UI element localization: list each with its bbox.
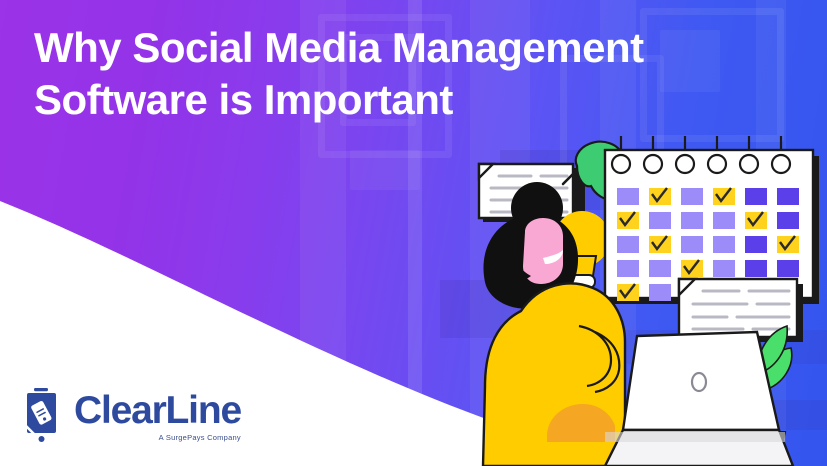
logo-wordmark: ClearLine bbox=[74, 391, 241, 430]
logo-tagline: A SurgePays Company bbox=[74, 433, 241, 442]
phone-card-icon bbox=[24, 386, 66, 446]
illustration bbox=[427, 136, 827, 466]
social-media-banner: Why Social Media Management Software is … bbox=[0, 0, 827, 466]
logo[interactable]: ClearLine A SurgePays Company bbox=[24, 386, 241, 446]
page-title: Why Social Media Management Software is … bbox=[34, 22, 814, 125]
